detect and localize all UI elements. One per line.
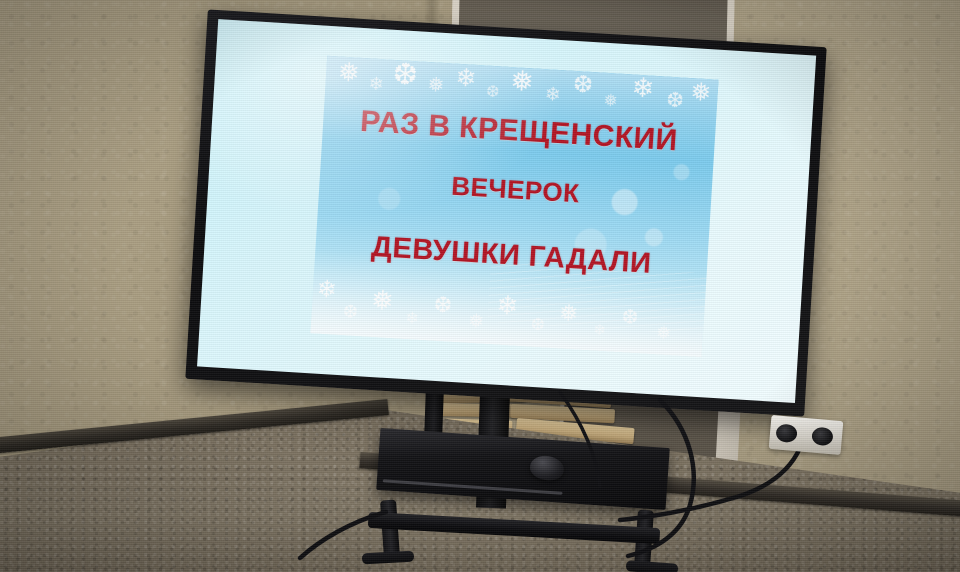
snowflake-icon: ❄ [316,278,338,303]
tv-screen[interactable]: ❅❄❆❅❄❆❅❄❆❅❄❆❅❄❆❅❄❆❅❄❆❅❄❆❅ РАЗ В КРЕЩЕНСК… [197,19,816,403]
snowflake-icon: ❆ [666,90,685,112]
snowflake-icon: ❅ [655,324,671,343]
snowflake-icon: ❄ [368,75,384,94]
snowflake-icon: ❅ [467,312,484,332]
snowflake-icon: ❅ [558,301,579,325]
presentation-slide: ❅❄❆❅❄❆❅❄❆❅❄❆❅❄❆❅❄❆❅❄❆❅❄❆❅ РАЗ В КРЕЩЕНСК… [310,55,719,357]
slide-title-line-2: ВЕЧЕРОК [450,171,580,210]
slide-text-block: РАЗ В КРЕЩЕНСКИЙ ВЕЧЕРОК ДЕВУШКИ ГАДАЛИ [315,103,716,285]
snowflake-icon: ❆ [433,293,453,316]
snowflake-icon: ❆ [342,302,358,321]
snowflake-icon: ❄ [405,311,419,328]
tv-bezel: ❅❄❆❅❄❆❅❄❆❅❄❆❅❄❆❅❄❆❅❄❆❅❄❆❅ РАЗ В КРЕЩЕНСК… [185,9,826,416]
photo-scene: ❅❄❆❅❄❆❅❄❆❅❄❆❅❄❆❅❄❆❅❄❆❅❄❆❅ РАЗ В КРЕЩЕНСК… [0,0,960,572]
snowflake-icon: ❆ [572,73,594,98]
snowflake-icon: ❆ [621,308,639,329]
snowflake-icon: ❄ [593,323,606,339]
snowflake-icon: ❅ [603,92,618,110]
snowflake-icon: ❄ [631,74,655,102]
snowflake-icon: ❅ [427,75,445,96]
snowflake-icon: ❅ [337,59,360,86]
snowflake-icon: ❄ [496,292,519,319]
socket-plug-right[interactable] [811,427,833,447]
snowflake-icon: ❅ [690,80,712,106]
snowflake-icon: ❄ [544,85,561,105]
snowflake-icon: ❆ [485,85,499,102]
snowflake-icon: ❆ [530,316,545,334]
snowflake-icon: ❅ [509,67,534,96]
snowflake-icon: ❆ [392,59,419,90]
television[interactable]: ❅❄❆❅❄❆❅❄❆❅❄❆❅❄❆❅❄❆❅❄❆❅❄❆❅ РАЗ В КРЕЩЕНСК… [185,9,826,416]
snowflake-icon: ❅ [370,287,394,315]
socket-plug-left[interactable] [775,423,797,443]
wall-socket[interactable] [769,415,844,455]
snowflake-icon: ❄ [455,66,477,92]
